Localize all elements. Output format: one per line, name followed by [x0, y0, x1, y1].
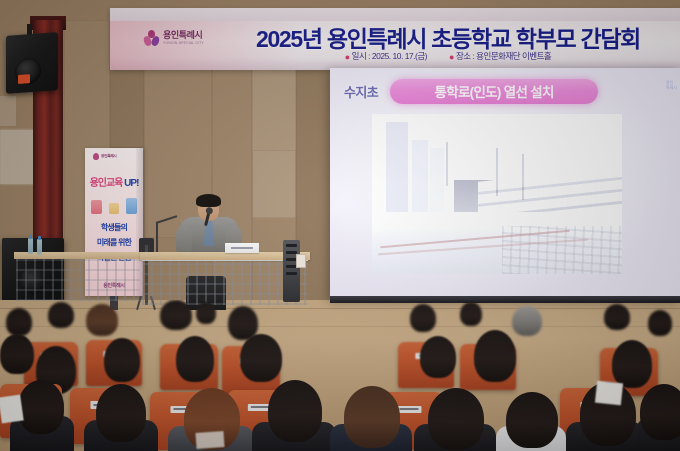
city-logo-kr: 용인특례시 [163, 31, 204, 40]
speaker-brand-badge [18, 74, 30, 84]
water-bottle [28, 238, 33, 254]
audience-head [420, 336, 456, 378]
rollup-illustration [91, 192, 137, 214]
slide-photo [372, 114, 622, 274]
audience-head [196, 302, 216, 324]
audience-head [344, 386, 400, 448]
conference-photo-scene: 용인특례시 YONGIN SPECIAL CITY 2025년 용인특례시 초등… [0, 0, 680, 451]
audience-head [240, 334, 282, 382]
bullet-icon: ● [449, 52, 454, 62]
rollup-title-main: 용인교육 [90, 178, 123, 189]
banner-date: 일시 : 2025. 10. 17.(금) [352, 51, 427, 61]
yongin-logo-icon [93, 153, 99, 160]
city-logo: 용인특례시 YONGIN SPECIAL CITY [144, 30, 204, 47]
rollup-logo: 용인특례시 [93, 153, 117, 160]
audience-head [506, 392, 558, 448]
wall-speaker [6, 32, 58, 94]
slide-topic-pill: 통학로(인도) 열선 설치 [390, 79, 598, 104]
audience-head [612, 340, 652, 388]
audience-head [86, 304, 118, 336]
rollup-slogan-line: 학생들의 [85, 220, 143, 235]
water-bottle [37, 239, 42, 255]
handout-paper [595, 381, 623, 406]
audience-area [0, 300, 680, 451]
nameplate [225, 243, 259, 253]
photo-tree [496, 148, 498, 196]
wall-outlet [296, 254, 306, 268]
city-logo-en: YONGIN SPECIAL CITY [163, 42, 204, 45]
audience-head [96, 384, 146, 442]
acoustic-panel [0, 130, 33, 184]
audience-head [512, 306, 542, 336]
audience-head [104, 338, 140, 382]
mic-stand-pole [156, 222, 158, 254]
audience-head [474, 330, 516, 382]
photo-apartment-tower [430, 148, 444, 214]
audience-head [0, 334, 34, 374]
audience-head [604, 304, 630, 330]
audience-head [176, 336, 214, 382]
photo-apartment-tower [386, 122, 408, 214]
banner-place: 장소 : 용인문화재단 이벤트홀 [456, 51, 551, 61]
bullet-icon: ● [345, 52, 350, 62]
photo-apartment-tower [412, 140, 428, 214]
student-icon [91, 200, 102, 214]
photo-tree [522, 154, 524, 200]
audience-head [160, 300, 192, 330]
rollup-title: 용인교육 UP! [85, 174, 143, 189]
audience-head [640, 384, 680, 440]
side-table-top [14, 252, 142, 259]
rollup-logo-text: 용인특례시 [101, 154, 117, 159]
rollup-title-up: UP! [124, 178, 138, 189]
audience-head [428, 388, 484, 450]
audience-head [18, 380, 64, 434]
audience-head [460, 302, 482, 326]
slide-header: 수지초 통학로(인도) 열선 설치 [344, 76, 674, 106]
audience-head [48, 302, 74, 328]
audience-head [410, 304, 436, 332]
acoustic-panel [0, 96, 16, 126]
banner-subtitle: ●일시 : 2025. 10. 17.(금)●장소 : 용인문화재단 이벤트홀 [238, 50, 658, 62]
side-table-skirt [16, 259, 140, 301]
audience-head [6, 308, 32, 336]
handout-paper [195, 431, 224, 449]
speaker-hair [196, 194, 221, 207]
rollup-slogan-line: 미래를 위한 [85, 235, 143, 250]
pencil-icon [126, 198, 137, 214]
av-equipment-rack [283, 240, 300, 302]
slide-corner-logo: 용인특례시 [666, 80, 677, 90]
audience-head [268, 380, 322, 442]
slide-school-name: 수지초 [344, 82, 378, 101]
projection-screen: 수지초 통학로(인도) 열선 설치 용인특례시 [330, 68, 680, 300]
banner-title: 2025년 용인특례시 초등학교 학부모 간담회 [238, 20, 658, 54]
photo-tree [446, 142, 448, 186]
yongin-logo-icon [144, 30, 159, 47]
handout-paper [0, 395, 24, 424]
book-icon [109, 203, 119, 214]
event-banner: 용인특례시 YONGIN SPECIAL CITY 2025년 용인특례시 초등… [110, 8, 680, 70]
audience-head [648, 310, 672, 336]
